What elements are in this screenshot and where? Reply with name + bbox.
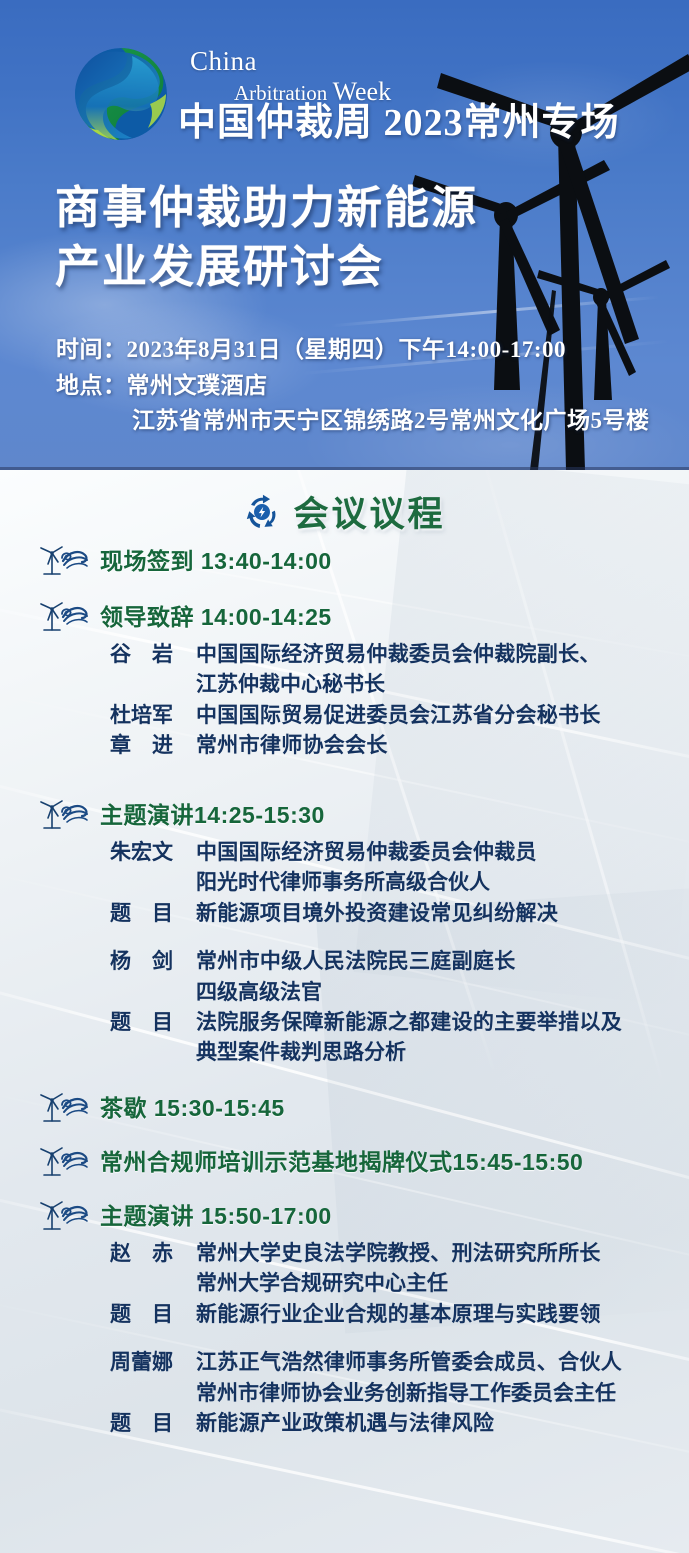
- agenda-person-detail: 新能源行业企业合规的基本原理与实践要领: [196, 1300, 601, 1330]
- agenda-section-header: 主题演讲14:25-15:30: [0, 796, 689, 830]
- agenda-person-name: 题 目: [110, 1008, 196, 1038]
- agenda-person-detail: 中国国际贸易促进委员会江苏省分会秘书长: [196, 701, 601, 731]
- wind-turbine-bullet-icon: [38, 1143, 90, 1177]
- main-title-line-1: 商事仲裁助力新能源: [55, 178, 615, 237]
- agenda-person-detail: 常州市律师协会会长: [196, 731, 388, 761]
- agenda-person-row: 题 目新能源行业企业合规的基本原理与实践要领: [110, 1300, 689, 1330]
- agenda-section-label: 主题演讲 15:50-17:00: [100, 1197, 332, 1231]
- agenda-person-detail: 中国国际经济贸易仲裁委员会仲裁院副长、: [196, 640, 601, 670]
- agenda-person-name: 杜培军: [110, 701, 196, 731]
- agenda-section-label: 主题演讲14:25-15:30: [100, 796, 325, 830]
- agenda-person-name: 章 进: [110, 731, 196, 761]
- main-title-line-2: 产业发展研讨会: [55, 237, 615, 296]
- agenda-person-row: 谷 岩中国国际经济贸易仲裁委员会仲裁院副长、: [110, 640, 689, 670]
- agenda-title: 会议议程: [293, 486, 445, 537]
- wind-turbine-bullet-icon: [38, 1089, 90, 1123]
- agenda-person-row: 题 目新能源项目境外投资建设常见纠纷解决: [110, 899, 689, 929]
- agenda-section-header: 常州合规师培训示范基地揭牌仪式15:45-15:50: [0, 1143, 689, 1177]
- agenda-section-label: 现场签到 13:40-14:00: [100, 542, 332, 576]
- agenda-people-block: 朱宏文中国国际经济贸易仲裁委员会仲裁员阳光时代律师事务所高级合伙人题 目新能源项…: [0, 830, 689, 1069]
- brand-text-en: China Arbitration Week: [186, 48, 391, 107]
- agenda-section-item: 茶歇 15:30-15:45: [0, 1089, 689, 1123]
- agenda-person-row: 赵 赤常州大学史良法学院教授、刑法研究所所长: [110, 1239, 689, 1269]
- event-time-row: 时间：2023年8月31日（星期四）下午14:00-17:00: [56, 332, 681, 368]
- agenda-person-detail-cont: 常州市律师协会业务创新指导工作委员会主任: [110, 1379, 689, 1409]
- agenda-header: 会议议程: [0, 486, 689, 537]
- agenda-person-name: 题 目: [110, 1409, 196, 1439]
- agenda-list: 现场签到 13:40-14:00 领导致辞 14:00-14:25谷 岩中国国际…: [0, 542, 689, 1439]
- place-label: 地点：: [56, 368, 127, 404]
- time-label: 时间：: [56, 332, 127, 368]
- agenda-section-header: 茶歇 15:30-15:45: [0, 1089, 689, 1123]
- event-place-row: 地点：常州文璞酒店: [56, 368, 681, 404]
- agenda-spacer: [110, 929, 689, 947]
- agenda-person-name: 题 目: [110, 899, 196, 929]
- agenda-person-detail: 江苏正气浩然律师事务所管委会成员、合伙人: [196, 1348, 622, 1378]
- agenda-person-detail: 新能源项目境外投资建设常见纠纷解决: [196, 899, 558, 929]
- agenda-person-detail: 常州市中级人民法院民三庭副庭长: [196, 947, 516, 977]
- agenda-people-block: 赵 赤常州大学史良法学院教授、刑法研究所所长常州大学合规研究中心主任题 目新能源…: [0, 1231, 689, 1440]
- wind-turbine-bullet-icon: [38, 598, 90, 632]
- agenda-section-header: 领导致辞 14:00-14:25: [0, 598, 689, 632]
- wind-turbine-bullet-icon: [38, 796, 90, 830]
- event-poster: China Arbitration Week 中国仲裁周 2023常州专场 商事…: [0, 0, 689, 1553]
- agenda-person-row: 题 目法院服务保障新能源之都建设的主要举措以及: [110, 1008, 689, 1038]
- agenda-person-detail-cont: 典型案件裁判思路分析: [110, 1038, 689, 1068]
- agenda-person-name: 题 目: [110, 1300, 196, 1330]
- event-meta: 时间：2023年8月31日（星期四）下午14:00-17:00 地点：常州文璞酒…: [56, 332, 681, 439]
- agenda-person-detail: 法院服务保障新能源之都建设的主要举措以及: [196, 1008, 622, 1038]
- agenda-person-detail: 新能源产业政策机遇与法律风险: [196, 1409, 494, 1439]
- agenda-person-row: 章 进常州市律师协会会长: [110, 731, 689, 761]
- agenda-section-label: 茶歇 15:30-15:45: [100, 1089, 285, 1123]
- poster-main-title: 商事仲裁助力新能源 产业发展研讨会: [55, 178, 615, 297]
- agenda-people-block: 谷 岩中国国际经济贸易仲裁委员会仲裁院副长、江苏仲裁中心秘书长杜培军中国国际贸易…: [0, 632, 689, 762]
- brand-china: China: [186, 48, 391, 75]
- agenda-section: 会议议程 现场签到 13:40-14:00 领导致辞 14:00-14:25谷 …: [0, 470, 689, 1553]
- agenda-person-name: 朱宏文: [110, 838, 196, 868]
- agenda-spacer: [110, 1330, 689, 1348]
- agenda-person-detail-cont: 江苏仲裁中心秘书长: [110, 670, 689, 700]
- agenda-person-detail-cont: 四级高级法官: [110, 978, 689, 1008]
- agenda-section-item: 主题演讲 15:50-17:00赵 赤常州大学史良法学院教授、刑法研究所所长常州…: [0, 1197, 689, 1440]
- agenda-section-item: 常州合规师培训示范基地揭牌仪式15:45-15:50: [0, 1143, 689, 1177]
- brand-text-zh: 中国仲裁周 2023常州专场: [178, 103, 683, 145]
- poster-header: China Arbitration Week 中国仲裁周 2023常州专场 商事…: [0, 0, 689, 470]
- agenda-person-name: 周蕾娜: [110, 1348, 196, 1378]
- agenda-person-row: 题 目新能源产业政策机遇与法律风险: [110, 1409, 689, 1439]
- agenda-section-item: 现场签到 13:40-14:00: [0, 542, 689, 576]
- agenda-person-detail-cont: 阳光时代律师事务所高级合伙人: [110, 868, 689, 898]
- wind-turbine-bullet-icon: [38, 542, 90, 576]
- agenda-person-name: 谷 岩: [110, 640, 196, 670]
- globe-logo-icon: [62, 42, 180, 146]
- agenda-person-row: 朱宏文中国国际经济贸易仲裁委员会仲裁员: [110, 838, 689, 868]
- agenda-section-header: 现场签到 13:40-14:00: [0, 542, 689, 576]
- agenda-section-label: 常州合规师培训示范基地揭牌仪式15:45-15:50: [100, 1143, 583, 1177]
- agenda-person-name: 杨 剑: [110, 947, 196, 977]
- place-address: 江苏省常州市天宁区锦绣路2号常州文化广场5号楼: [132, 408, 650, 433]
- agenda-person-name: 赵 赤: [110, 1239, 196, 1269]
- agenda-section-label: 领导致辞 14:00-14:25: [100, 598, 332, 632]
- place-value: 常州文璞酒店: [127, 373, 268, 398]
- agenda-section-header: 主题演讲 15:50-17:00: [0, 1197, 689, 1231]
- agenda-person-detail: 中国国际经济贸易仲裁委员会仲裁员: [196, 838, 537, 868]
- agenda-person-detail-cont: 常州大学合规研究中心主任: [110, 1269, 689, 1299]
- agenda-person-row: 杜培军中国国际贸易促进委员会江苏省分会秘书长: [110, 701, 689, 731]
- recycle-energy-icon: [243, 493, 281, 531]
- agenda-person-detail: 常州大学史良法学院教授、刑法研究所所长: [196, 1239, 601, 1269]
- agenda-person-row: 周蕾娜江苏正气浩然律师事务所管委会成员、合伙人: [110, 1348, 689, 1378]
- agenda-section-item: 领导致辞 14:00-14:25谷 岩中国国际经济贸易仲裁委员会仲裁院副长、江苏…: [0, 598, 689, 762]
- wind-turbine-bullet-icon: [38, 1197, 90, 1231]
- time-value: 2023年8月31日（星期四）下午14:00-17:00: [127, 337, 566, 362]
- agenda-person-row: 杨 剑常州市中级人民法院民三庭副庭长: [110, 947, 689, 977]
- event-address-row: 江苏省常州市天宁区锦绣路2号常州文化广场5号楼: [56, 403, 681, 439]
- agenda-section-item: 主题演讲14:25-15:30朱宏文中国国际经济贸易仲裁委员会仲裁员阳光时代律师…: [0, 796, 689, 1069]
